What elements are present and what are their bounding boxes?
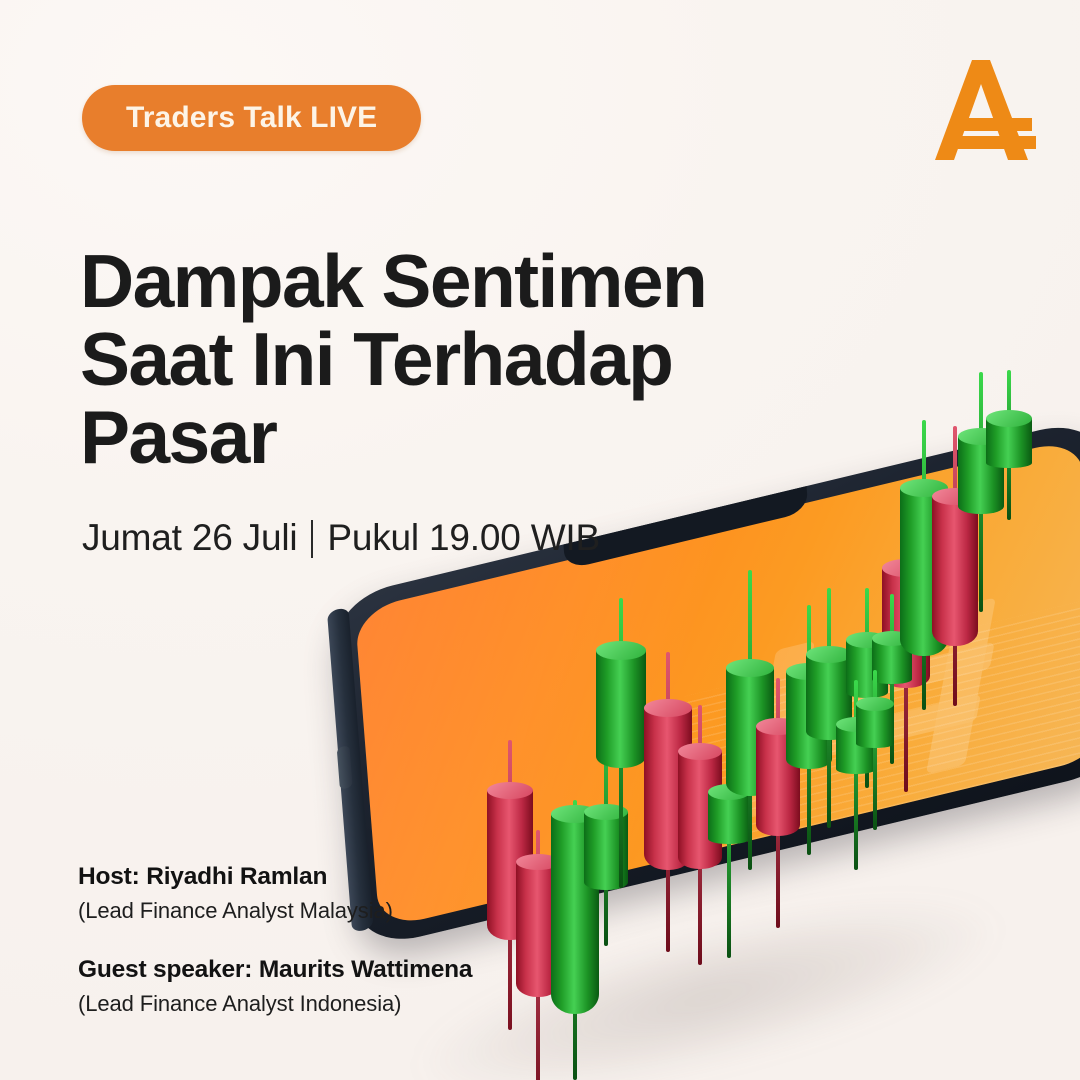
candle-body [551, 814, 599, 1014]
live-badge[interactable]: Traders Talk LIVE [82, 85, 421, 151]
candle-cap [958, 428, 1004, 445]
candle-body [932, 496, 978, 646]
candle-wick [748, 570, 752, 870]
event-time: Pukul 19.00 WIB [327, 516, 600, 560]
candle-body [726, 668, 774, 796]
candle-cap [516, 854, 560, 870]
candle-body [516, 862, 560, 997]
candle-body [882, 568, 930, 688]
guest-speaker-block: Guest speaker: Maurits Wattimena (Lead F… [78, 955, 472, 1018]
candle-body [756, 726, 800, 836]
candle-cap [986, 410, 1032, 427]
poster-canvas: Traders Talk LIVE Dampak Sentimen Saat I… [0, 0, 1080, 1080]
candle-body [958, 436, 1004, 514]
candle-body [678, 751, 722, 869]
candle-wick [922, 420, 926, 710]
host-block: Host: Riyadhi Ramlan (Lead Finance Analy… [78, 862, 472, 925]
schedule-separator [311, 520, 313, 558]
candle-wick [604, 696, 608, 946]
candle-body [836, 724, 876, 774]
guest-speaker-name: Guest speaker: Maurits Wattimena [78, 955, 472, 986]
candle-body [846, 640, 888, 698]
candle-cap [836, 717, 876, 732]
candle-body [806, 654, 852, 740]
candle-wick [890, 594, 894, 764]
candle-wick [873, 670, 877, 830]
event-date: Jumat 26 Juli [82, 516, 297, 560]
candle-wick [508, 740, 512, 1030]
guest-speaker-role: (Lead Finance Analyst Indonesia) [78, 990, 472, 1019]
candle-wick [865, 588, 869, 788]
live-badge-label: Traders Talk LIVE [126, 103, 377, 133]
phone-volume-button [337, 745, 353, 790]
candle-cap [726, 659, 774, 677]
candle-cap [596, 641, 646, 660]
candle-cap [551, 805, 599, 823]
candle-wick [698, 705, 702, 965]
candle-body [900, 488, 948, 656]
candle-cap [932, 488, 978, 505]
screen-line-pattern [684, 598, 1080, 853]
headline-line-3: Pasar [80, 399, 840, 477]
candle-wick [666, 652, 670, 952]
host-name: Host: Riyadhi Ramlan [78, 862, 472, 893]
candle-body [584, 812, 628, 890]
event-schedule: Jumat 26 Juli Pukul 19.00 WIB [82, 516, 600, 560]
candle-body [986, 418, 1032, 468]
candle-cap [806, 646, 852, 663]
candle-body [708, 792, 750, 844]
candle-body [644, 708, 692, 870]
candle-cap [786, 663, 832, 680]
candle-body [872, 638, 912, 684]
host-role: (Lead Finance Analyst Malaysia) [78, 897, 472, 926]
candle-body [596, 650, 646, 768]
candle-wick [854, 680, 858, 870]
candle-cap [846, 632, 888, 648]
candle-wick [619, 598, 623, 888]
candle-wick [953, 426, 957, 706]
phone-screen [355, 437, 1080, 929]
candle-cap [644, 699, 692, 717]
candle-wick [573, 800, 577, 1080]
candle-body [786, 671, 832, 769]
candle-cap [872, 631, 912, 646]
candle-wick [827, 588, 831, 828]
candle-wick [979, 372, 983, 612]
screen-logo-glyph [745, 581, 1079, 830]
candle-cap [584, 804, 628, 820]
candle-wick [536, 830, 540, 1080]
candle-cap [882, 559, 930, 577]
headline-line-1: Dampak Sentimen [80, 243, 840, 321]
candle-cap [856, 697, 894, 711]
phone-notch [563, 486, 808, 570]
candle-cap [678, 743, 722, 760]
candle-cap [900, 479, 948, 497]
letter-a-logo-icon [932, 56, 1036, 166]
headline-line-2: Saat Ini Terhadap [80, 321, 840, 399]
candle-body [856, 704, 894, 748]
candle-wick [1007, 370, 1011, 520]
candle-wick [904, 512, 908, 792]
candle-wick [776, 678, 780, 928]
speakers-section: Host: Riyadhi Ramlan (Lead Finance Analy… [78, 862, 472, 1018]
candle-body [487, 790, 533, 940]
candle-cap [756, 718, 800, 735]
candle-cap [708, 784, 750, 800]
page-title: Dampak Sentimen Saat Ini Terhadap Pasar [80, 243, 840, 476]
candle-cap [487, 782, 533, 799]
candle-wick [727, 758, 731, 958]
candle-wick [807, 605, 811, 855]
